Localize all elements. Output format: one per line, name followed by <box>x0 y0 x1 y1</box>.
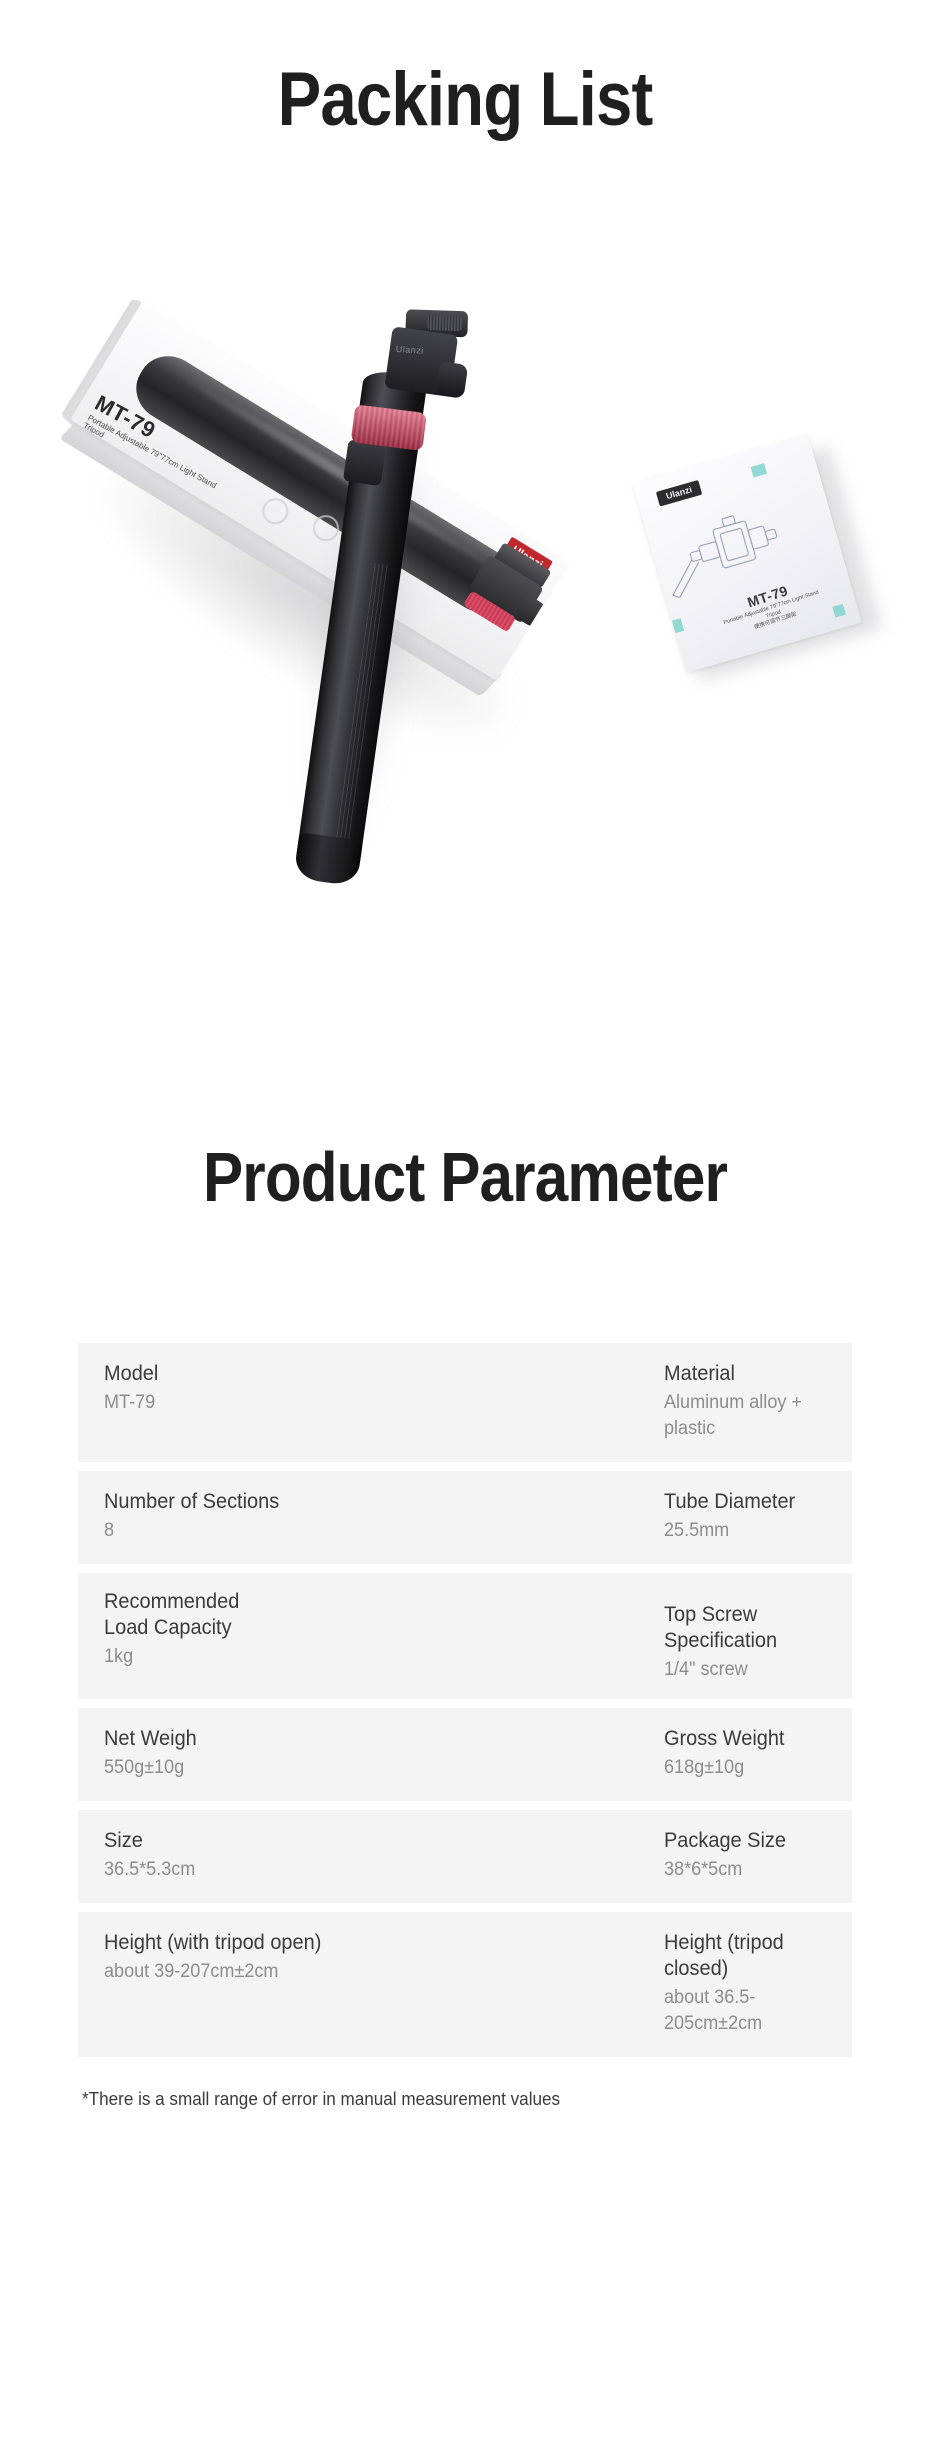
parameter-value: 618g±10g <box>664 1755 829 1781</box>
table-cell-left: Size36.5*5.3cm <box>104 1828 478 1883</box>
parameter-label: Package Size <box>664 1828 829 1854</box>
parameter-value: about 39-207cm±2cm <box>104 1959 446 1985</box>
parameter-value: 36.5*5.3cm <box>104 1857 446 1883</box>
product-photo: Ulanzi MT-79 Portable Adjustable 79"77cm… <box>0 300 930 940</box>
manual-tab-left <box>670 618 684 634</box>
table-cell-right: MaterialAluminum alloy + plastic <box>478 1361 852 1442</box>
parameter-table: ModelMT-79MaterialAluminum alloy + plast… <box>78 1343 852 2066</box>
table-cell-left: Number of Sections8 <box>104 1489 478 1544</box>
parameter-label: Model <box>104 1361 446 1387</box>
table-row: Net Weigh550g±10gGross Weight618g±10g <box>78 1708 852 1801</box>
parameter-label: Gross Weight <box>664 1726 829 1752</box>
parameter-label: Size <box>104 1828 446 1854</box>
table-cell-left: ModelMT-79 <box>104 1361 478 1442</box>
manual-tab-bottom <box>832 604 846 618</box>
tripod-tilt-knob <box>436 361 468 399</box>
parameter-label: Height (tripod closed) <box>664 1930 829 1982</box>
table-row: ModelMT-79MaterialAluminum alloy + plast… <box>78 1343 852 1462</box>
parameter-label: Tube Diameter <box>664 1489 829 1515</box>
parameter-label: Net Weigh <box>104 1726 446 1752</box>
table-cell-right: Tube Diameter25.5mm <box>478 1489 852 1544</box>
parameter-value: 25.5mm <box>664 1518 829 1544</box>
table-row: Size36.5*5.3cmPackage Size38*6*5cm <box>78 1810 852 1903</box>
table-cell-right: Height (tripod closed)about 36.5-205cm±2… <box>478 1930 852 2037</box>
table-row: Recommended Load Capacity1kgTop Screw Sp… <box>78 1573 852 1699</box>
parameter-label: Height (with tripod open) <box>104 1930 446 1956</box>
instruction-manual: Ulanzi MT-79 <box>633 421 917 705</box>
parameter-label: Number of Sections <box>104 1489 446 1515</box>
parameter-label: Recommended Load Capacity <box>104 1589 446 1641</box>
parameter-value: 550g±10g <box>104 1755 446 1781</box>
parameter-value: 8 <box>104 1518 446 1544</box>
table-row: Height (with tripod open)about 39-207cm±… <box>78 1912 852 2057</box>
page-title-packing-list: Packing List <box>65 56 865 144</box>
table-cell-right: Top Screw Specification1/4" screw <box>478 1589 852 1683</box>
ulanzi-logo-manual: Ulanzi <box>656 480 702 507</box>
tripod-lock-lever <box>343 439 386 486</box>
table-cell-right: Package Size38*6*5cm <box>478 1828 852 1883</box>
parameter-value: MT-79 <box>104 1390 446 1416</box>
table-cell-right: Gross Weight618g±10g <box>478 1726 852 1781</box>
parameter-value: 1kg <box>104 1644 446 1670</box>
parameter-label: Top Screw Specification <box>664 1602 829 1654</box>
table-footnote: *There is a small range of error in manu… <box>82 2089 560 2110</box>
table-cell-left: Recommended Load Capacity1kg <box>104 1589 478 1683</box>
parameter-value: Aluminum alloy + plastic <box>664 1390 829 1442</box>
table-cell-left: Net Weigh550g±10g <box>104 1726 478 1781</box>
parameter-value: 1/4" screw <box>664 1657 829 1683</box>
table-row: Number of Sections8Tube Diameter25.5mm <box>78 1471 852 1564</box>
tripod-head-assembly: Ulanzi <box>370 303 481 427</box>
manual-tab-top <box>751 463 767 477</box>
table-cell-left: Height (with tripod open)about 39-207cm±… <box>104 1930 478 2037</box>
page-title-product-parameter: Product Parameter <box>65 1135 865 1219</box>
parameter-label: Material <box>664 1361 829 1387</box>
ulanzi-logo-tripod: Ulanzi <box>395 344 424 356</box>
parameter-value: about 36.5-205cm±2cm <box>664 1985 829 2037</box>
parameter-value: 38*6*5cm <box>664 1857 829 1883</box>
